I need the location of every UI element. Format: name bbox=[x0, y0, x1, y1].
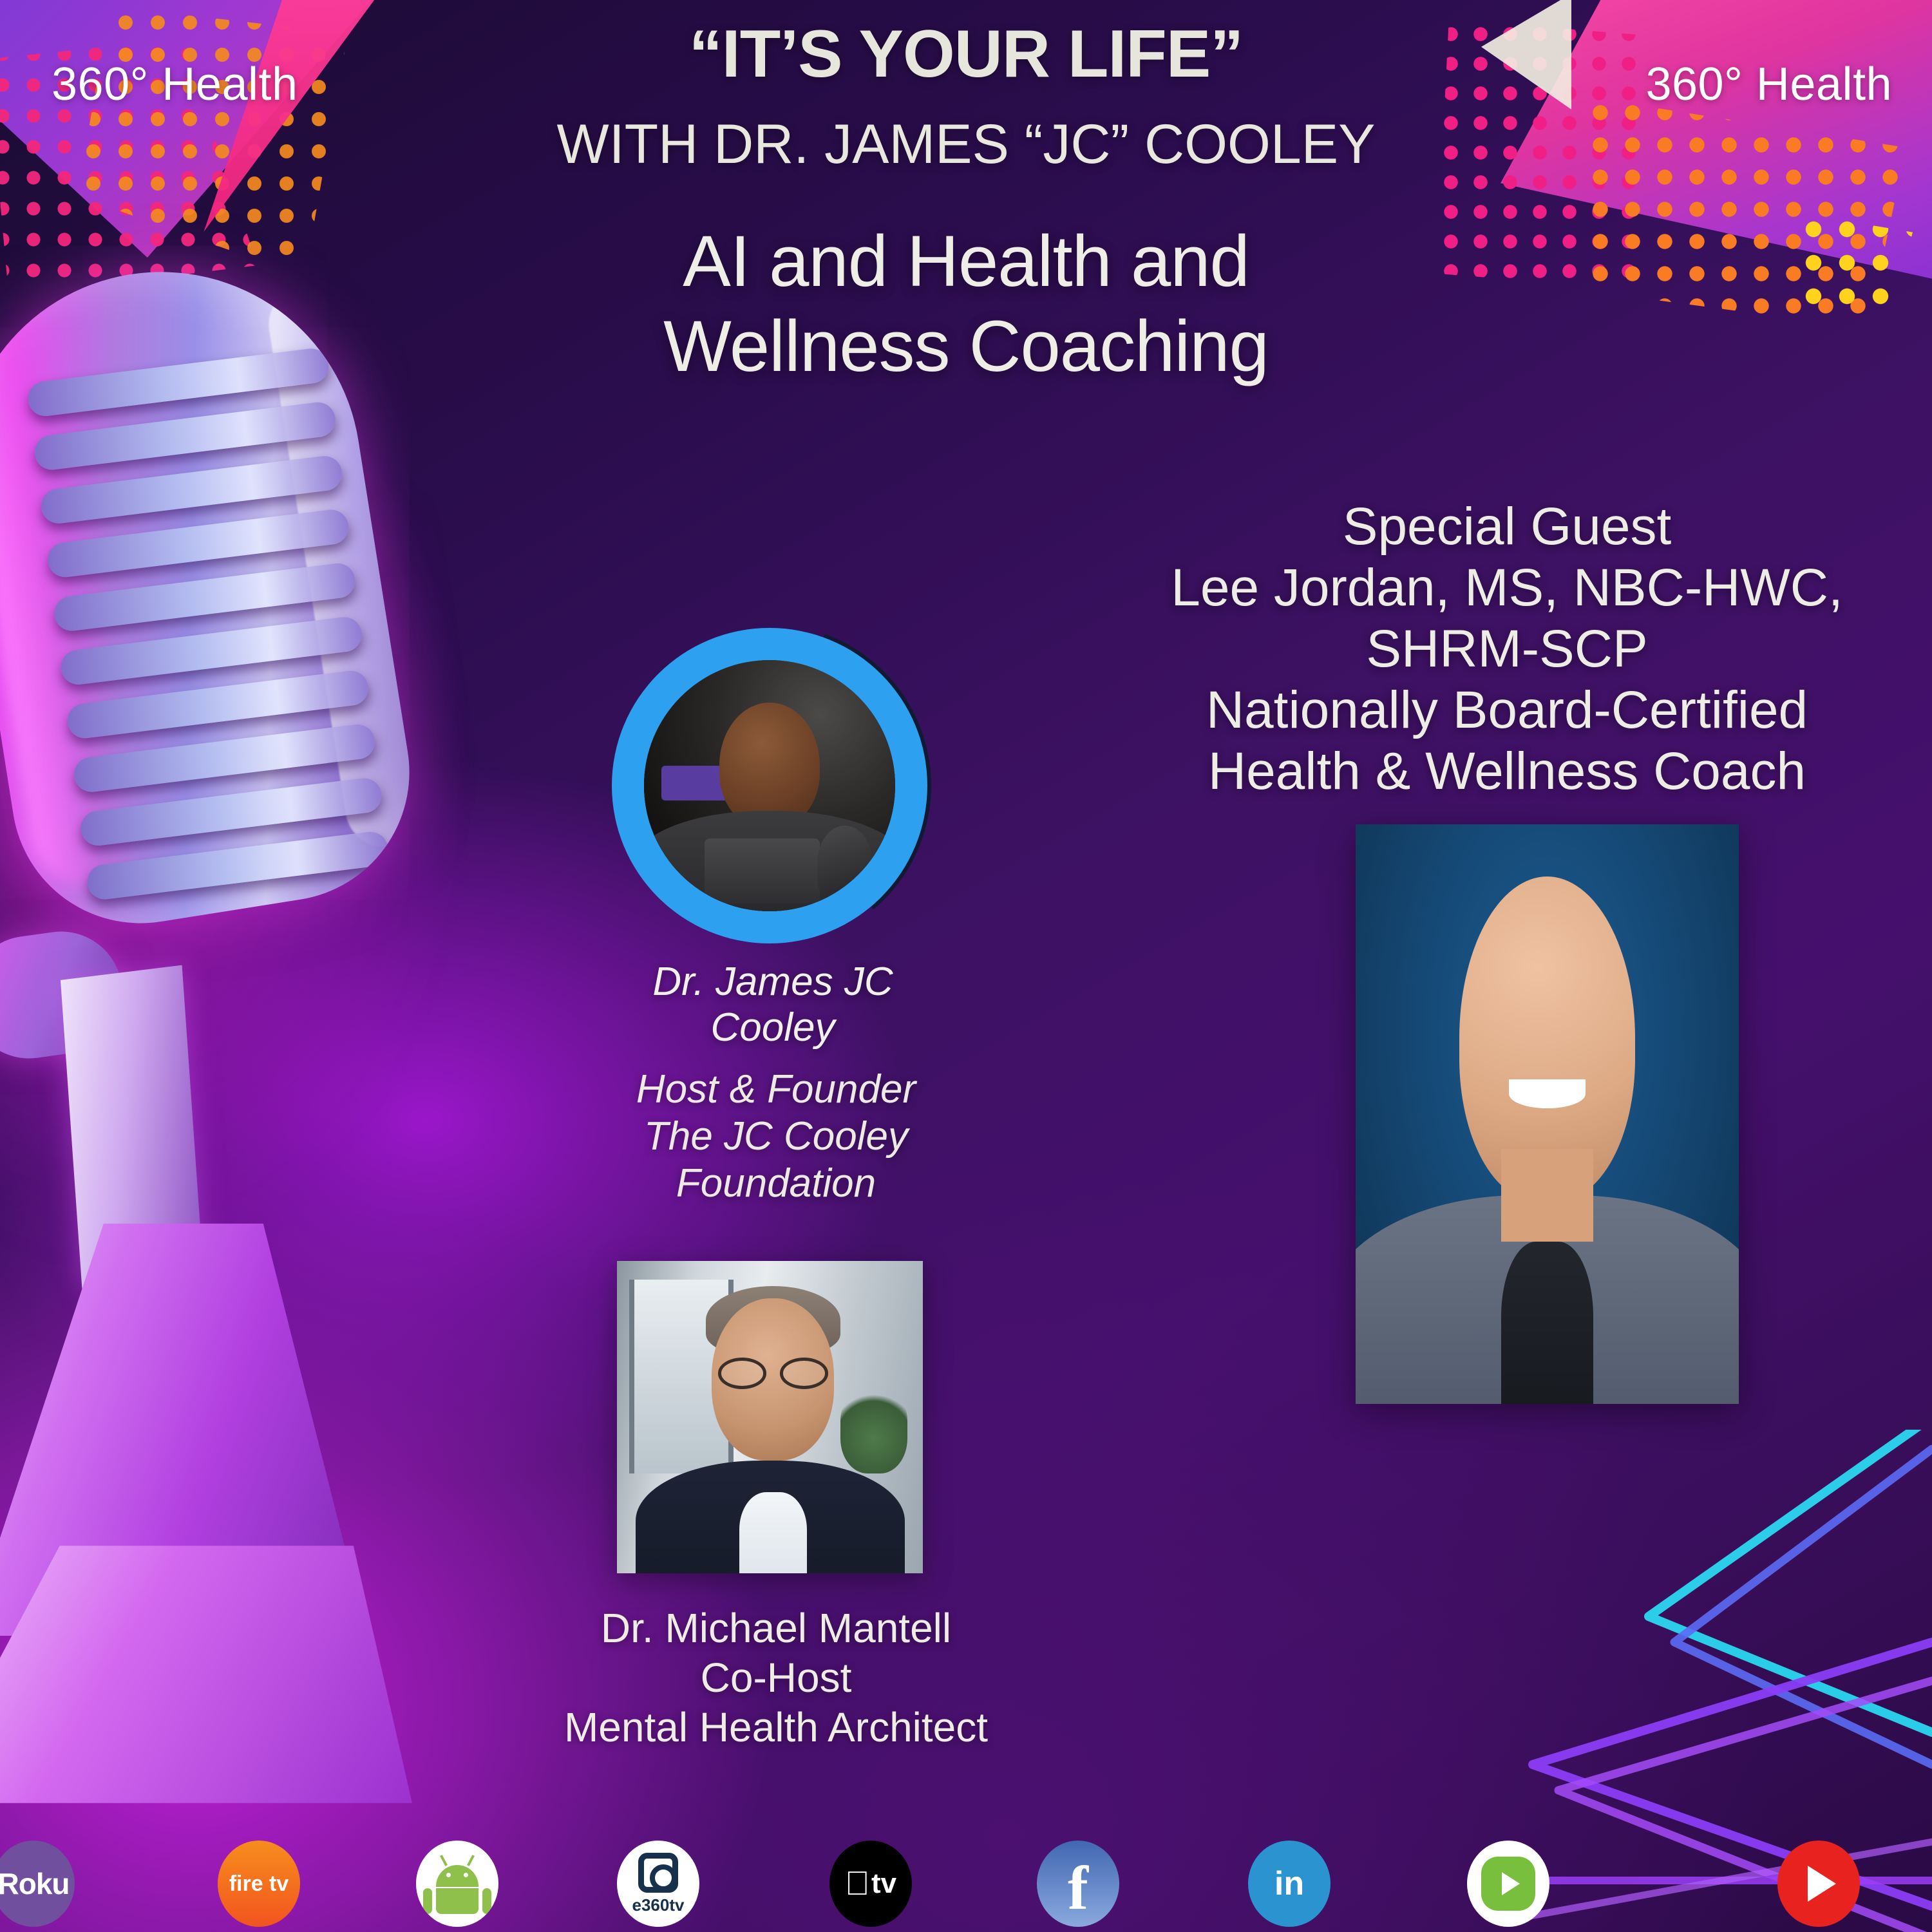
roku-icon[interactable]: Roku bbox=[0, 1841, 75, 1927]
fire-tv-label: fire tv bbox=[229, 1871, 289, 1897]
android-robot-glyph bbox=[436, 1859, 478, 1909]
host-name: Dr. James JC Cooley bbox=[567, 960, 979, 1050]
e360tv-icon[interactable]: e360tv bbox=[617, 1841, 699, 1927]
apple-logo-glyph:  bbox=[845, 1867, 870, 1900]
episode-title-line-1: AI and Health and bbox=[451, 219, 1481, 304]
host-role-line-3: Foundation bbox=[554, 1160, 998, 1207]
guest-title-line-1: Nationally Board-Certified bbox=[1127, 679, 1887, 741]
rumble-play-glyph bbox=[1481, 1857, 1535, 1911]
host-avatar-photo bbox=[644, 660, 895, 911]
show-title: “IT’S YOUR LIFE” bbox=[419, 19, 1513, 89]
host-name-line-2: Cooley bbox=[567, 1005, 979, 1051]
youtube-play-icon[interactable] bbox=[1777, 1841, 1860, 1927]
e360tv-glyph bbox=[638, 1853, 678, 1893]
guest-name-line-2: SHRM-SCP bbox=[1127, 618, 1887, 679]
brand-logo-left: 360° Health bbox=[52, 58, 298, 111]
cohost-photo bbox=[617, 1261, 923, 1573]
episode-title: AI and Health and Wellness Coaching bbox=[451, 219, 1481, 389]
rumble-play-icon[interactable] bbox=[1467, 1841, 1549, 1927]
guest-name-line-1: Lee Jordan, MS, NBC-HWC, bbox=[1127, 557, 1887, 618]
guest-title-line-2: Health & Wellness Coach bbox=[1127, 741, 1887, 802]
cohost-info-block: Dr. Michael Mantell Co-Host Mental Healt… bbox=[509, 1604, 1043, 1752]
linkedin-label: in bbox=[1274, 1864, 1304, 1903]
retro-microphone-illustration bbox=[0, 193, 567, 1880]
roku-label: Roku bbox=[0, 1866, 70, 1901]
apple-tv-label: tv bbox=[871, 1868, 896, 1900]
guest-photo bbox=[1356, 824, 1739, 1404]
facebook-icon[interactable]: f bbox=[1037, 1841, 1119, 1927]
cohost-descriptor: Mental Health Architect bbox=[509, 1703, 1043, 1752]
facebook-f-glyph: f bbox=[1068, 1864, 1088, 1913]
apple-tv-icon[interactable]:  tv bbox=[829, 1841, 912, 1927]
cohost-role: Co-Host bbox=[509, 1653, 1043, 1703]
fire-tv-icon[interactable]: fire tv bbox=[218, 1841, 300, 1927]
brand-logo-right: 360° Health bbox=[1645, 58, 1892, 111]
linkedin-icon[interactable]: in bbox=[1248, 1841, 1331, 1927]
cohost-name: Dr. Michael Mantell bbox=[509, 1604, 1043, 1653]
youtube-play-glyph bbox=[1808, 1866, 1836, 1902]
e360tv-label: e360tv bbox=[632, 1895, 685, 1915]
platform-icon-bar: Roku fire tv e360tv  tv f in bbox=[0, 1835, 1932, 1932]
show-host-line: WITH DR. JAMES “JC” COOLEY bbox=[354, 113, 1578, 176]
android-icon[interactable] bbox=[416, 1841, 498, 1927]
podcast-promo-poster: 360° Health 360° Health “IT’S YOUR LIFE”… bbox=[0, 0, 1932, 1932]
host-role-line-2: The JC Cooley bbox=[554, 1113, 998, 1160]
host-name-line-1: Dr. James JC bbox=[567, 960, 979, 1005]
guest-info-block: Special Guest Lee Jordan, MS, NBC-HWC, S… bbox=[1127, 496, 1887, 802]
microphone-base-lower bbox=[0, 1546, 412, 1803]
host-role-line-1: Host & Founder bbox=[554, 1066, 998, 1113]
episode-title-line-2: Wellness Coaching bbox=[451, 304, 1481, 389]
host-role: Host & Founder The JC Cooley Foundation bbox=[554, 1066, 998, 1207]
guest-label: Special Guest bbox=[1127, 496, 1887, 557]
microphone-grille bbox=[26, 346, 389, 895]
